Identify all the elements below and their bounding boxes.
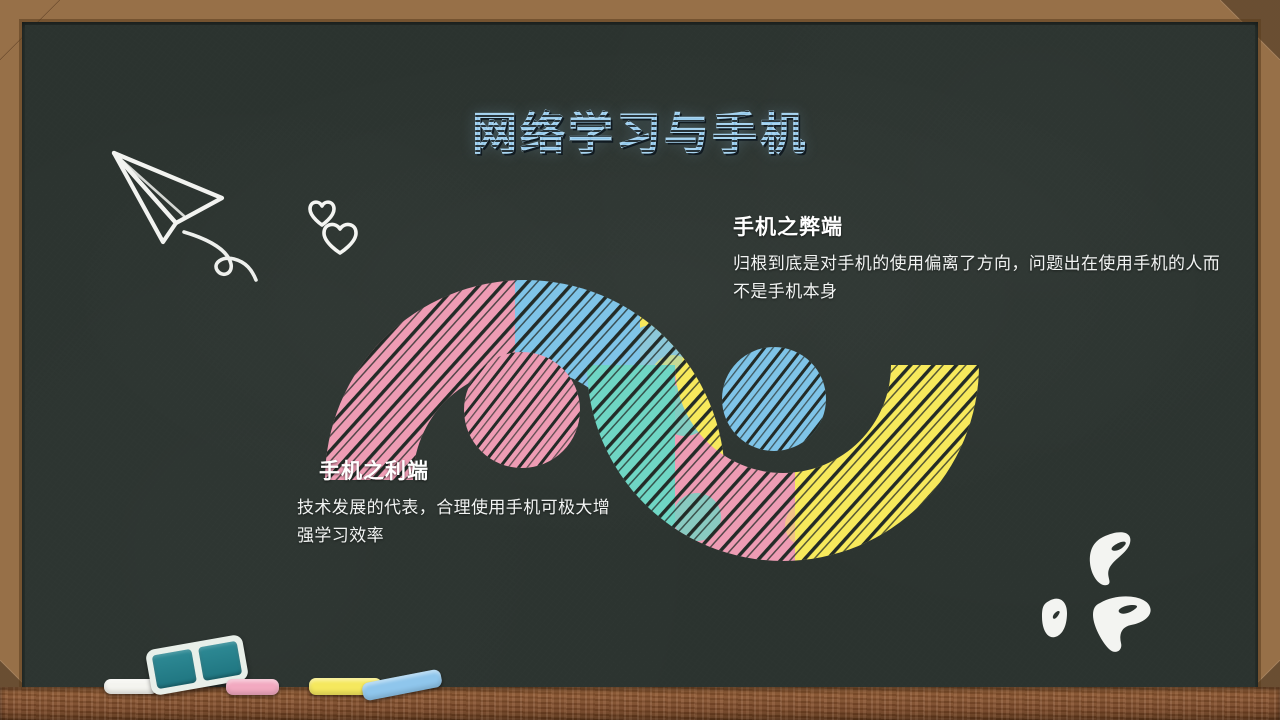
cons-heading: 手机之弊端 [733,211,1223,241]
pros-heading: 手机之利端 [319,455,627,485]
hearts-icon [297,193,367,255]
pros-body: 技术发展的代表，合理使用手机可极大增强学习效率 [297,495,627,550]
text-block-cons: 手机之弊端 归根到底是对手机的使用偏离了方向，问题出在使用手机的人而不是手机本身 [733,211,1223,306]
chalk-blobs-icon [1025,525,1190,660]
cons-body: 归根到底是对手机的使用偏离了方向，问题出在使用手机的人而不是手机本身 [733,251,1223,306]
eraser-felt-left [152,649,197,689]
slide-canvas: 网络学习与手机 网络学习与手机 [0,0,1280,720]
chalkboard-surface: 网络学习与手机 网络学习与手机 [25,25,1255,695]
chalk-stick-pink[interactable] [226,679,279,695]
chalk-ledge [0,687,1280,720]
text-block-pros: 手机之利端 技术发展的代表，合理使用手机可极大增强学习效率 [297,455,627,550]
inner-circle-left [464,352,580,468]
inner-circle-right [722,347,826,451]
paper-plane-icon [80,120,265,285]
eraser-felt-right [197,641,242,681]
